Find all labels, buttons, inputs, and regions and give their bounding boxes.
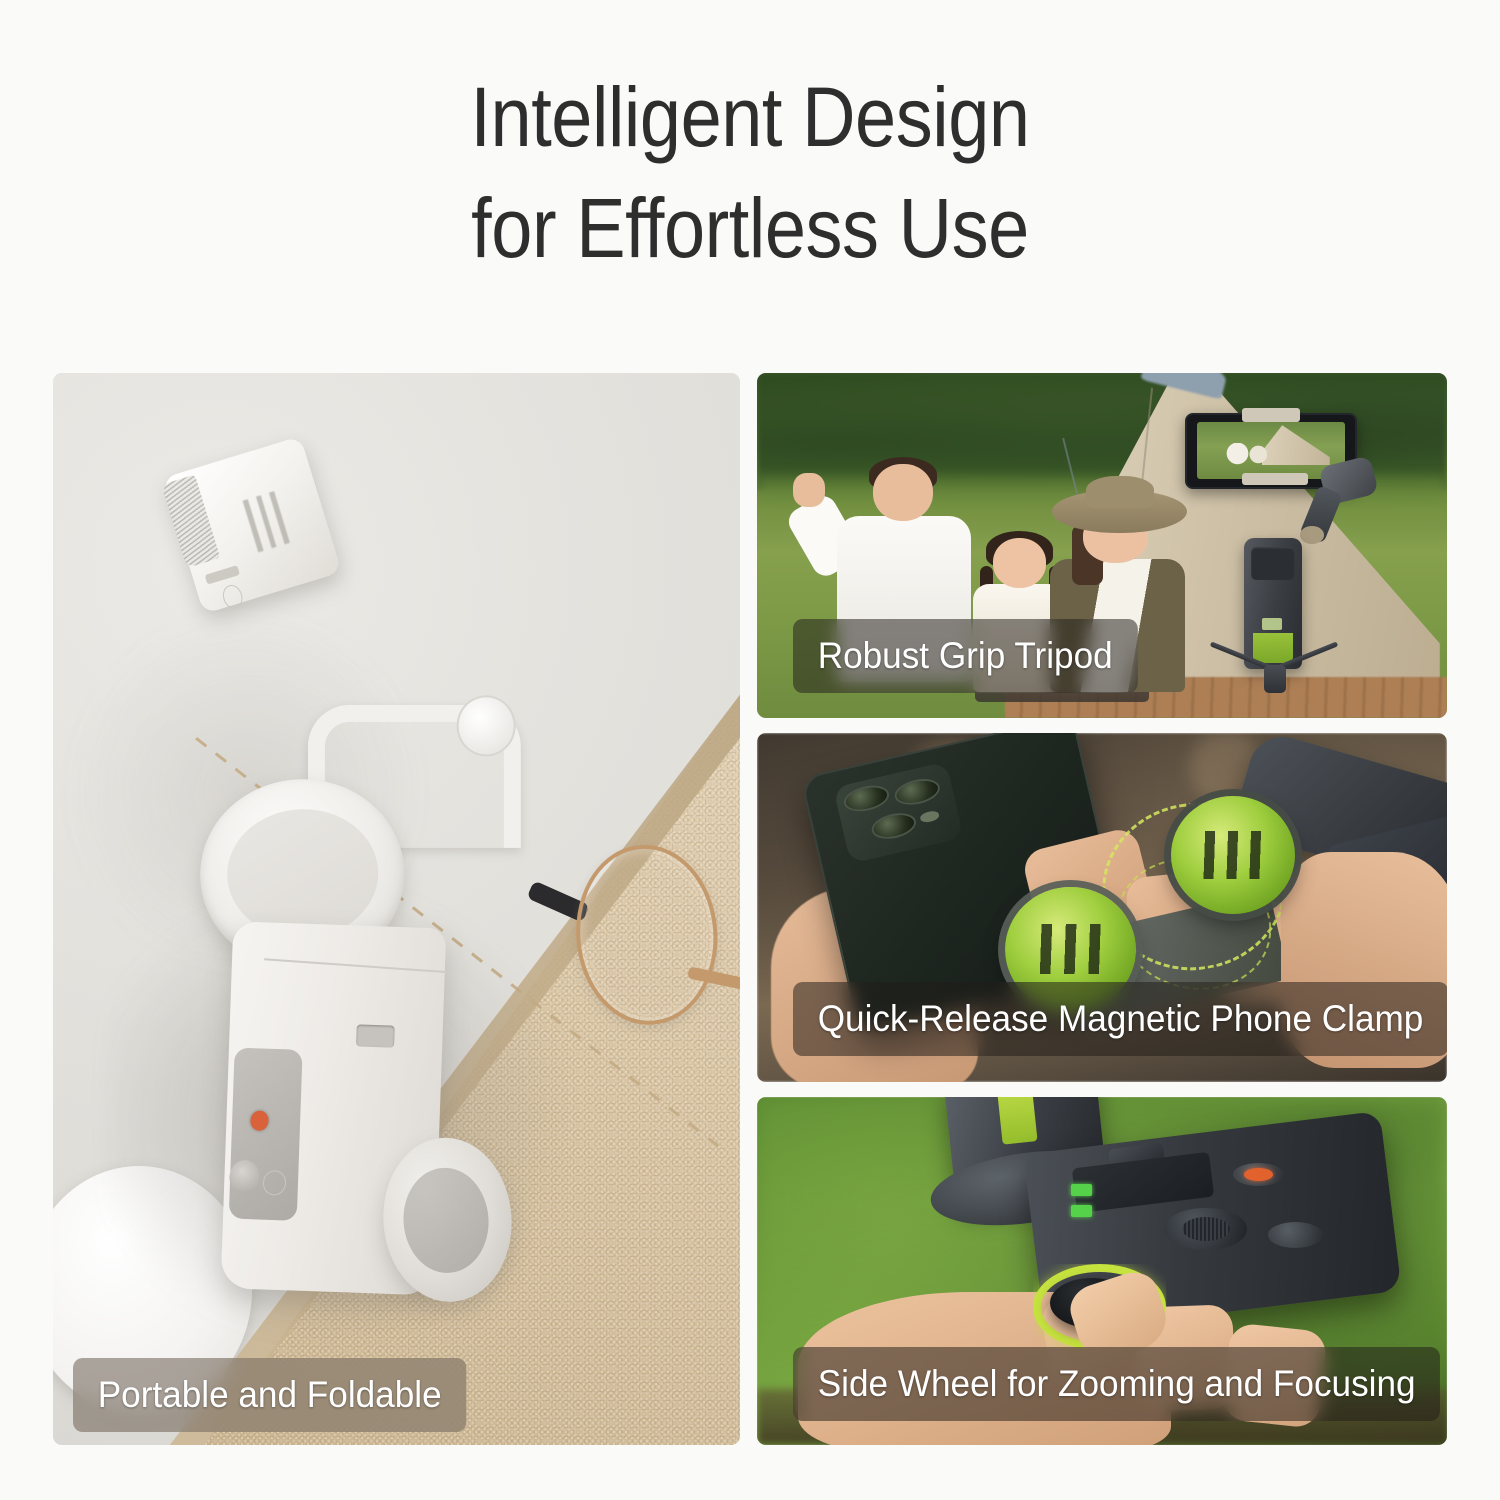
gimbal-arm-knob: [456, 696, 515, 757]
magnetic-disc-gimbal-side: [1171, 796, 1295, 915]
gimbal-green-accent: [995, 1097, 1037, 1144]
dji-logo-icon: [1198, 831, 1268, 878]
tripod-legs: [1207, 663, 1344, 699]
gimbal-control-panel: [1251, 547, 1295, 580]
eyeglasses: [549, 839, 739, 1023]
feature-panel-robust-grip-tripod[interactable]: Robust Grip Tripod: [757, 373, 1447, 718]
caption-robust-grip-tripod: Robust Grip Tripod: [793, 619, 1137, 693]
status-led-1-icon: [1071, 1184, 1092, 1196]
caption-portable-foldable: Portable and Foldable: [73, 1358, 466, 1432]
phone-clamp-bottom: [1242, 473, 1308, 485]
dji-logo-icon: [1262, 618, 1282, 630]
man-head: [873, 464, 933, 521]
woman-hat-crown: [1086, 476, 1154, 508]
feature-panel-magnetic-phone-clamp[interactable]: Quick-Release Magnetic Phone Clamp: [757, 733, 1447, 1082]
status-led-2-icon: [1071, 1205, 1092, 1217]
dji-logo-icon: [1034, 924, 1107, 974]
caption-magnetic-phone-clamp: Quick-Release Magnetic Phone Clamp: [793, 982, 1447, 1056]
camera-flash-icon: [920, 811, 940, 824]
feature-panel-side-wheel[interactable]: Side Wheel for Zooming and Focusing: [757, 1097, 1447, 1445]
man-waving-hand: [793, 473, 826, 508]
feature-grid: Portable and Foldable: [53, 373, 1447, 1445]
white-gimbal-folded: [128, 689, 638, 1375]
gimbal-control-pad: [228, 1047, 302, 1220]
mic-port: [204, 565, 240, 585]
joystick-icon: [1164, 1208, 1247, 1250]
girl-head: [993, 538, 1047, 587]
dji-logo-icon: [238, 490, 295, 554]
page-title-line-1: Intelligent Design: [90, 62, 1410, 173]
gimbal-tripod-rig: [1185, 408, 1406, 705]
tripod-leg-center: [1264, 665, 1286, 693]
usb-c-port-icon: [356, 1024, 395, 1047]
camera-lens-1-icon: [844, 785, 889, 814]
camera-lens-2-icon: [894, 778, 939, 807]
camera-lens-3-icon: [871, 812, 916, 841]
camera-module: [833, 763, 963, 865]
power-button-icon: [1268, 1222, 1323, 1248]
gimbal-joint: [1300, 526, 1324, 544]
glasses-lens: [570, 840, 722, 1029]
gimbal-green-accent: [1253, 633, 1293, 663]
page-title: Intelligent Design for Effortless Use: [90, 62, 1410, 284]
page-title-line-2: for Effortless Use: [90, 173, 1410, 284]
phone-clamp-top: [1242, 408, 1299, 423]
caption-side-wheel: Side Wheel for Zooming and Focusing: [793, 1347, 1440, 1421]
record-button-icon: [1233, 1163, 1284, 1186]
feature-panel-portable-foldable[interactable]: Portable and Foldable: [53, 373, 740, 1445]
